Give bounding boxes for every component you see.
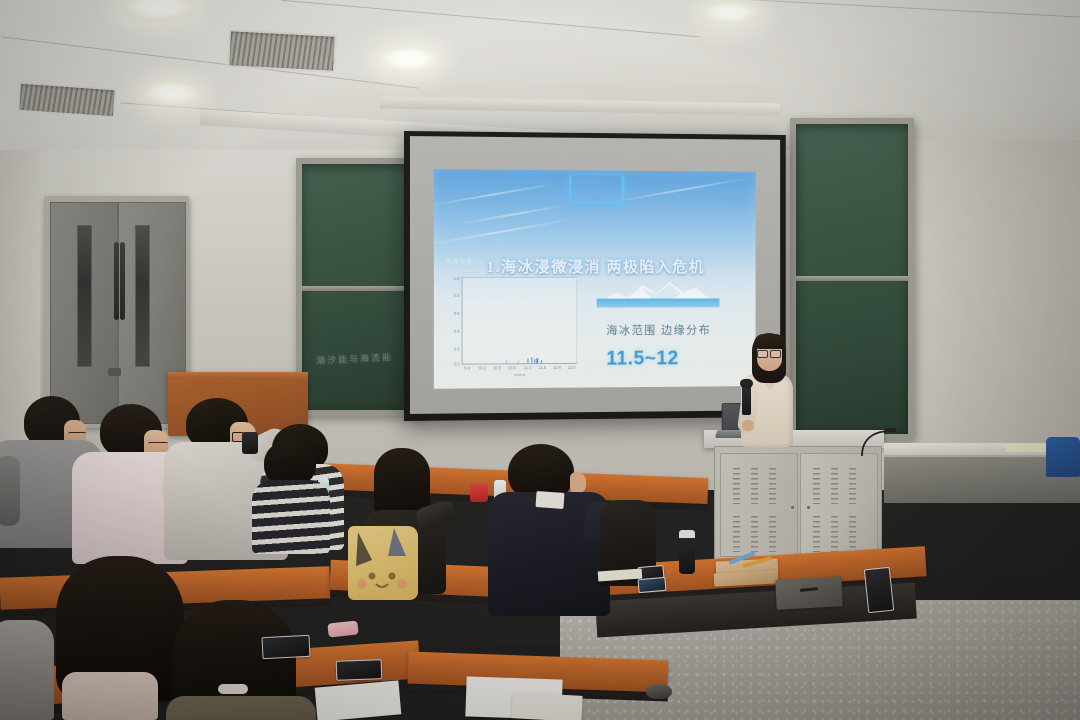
chalk-writing-small: · · · xyxy=(326,336,345,343)
smartphone[interactable] xyxy=(261,635,310,659)
chalk-rail xyxy=(796,276,908,281)
ceiling-light xyxy=(702,2,760,24)
chart-marker xyxy=(531,357,532,363)
y-tick-label: 0.2 xyxy=(454,347,460,352)
cabinet-knob[interactable] xyxy=(807,506,810,509)
door-lock-icon[interactable] xyxy=(108,368,121,376)
x-tick-label: 11.2 xyxy=(524,365,532,370)
chart-marker xyxy=(506,360,507,363)
y-tick-label: 0.6 xyxy=(454,311,460,316)
slide-chart: 1.0 0.8 0.6 0.4 0.2 0.0 9.4 10.2 10.5 10… xyxy=(442,275,579,383)
shirt-collar xyxy=(535,491,564,509)
x-tick-label: 9.4 xyxy=(464,366,470,371)
chart-marker xyxy=(541,360,542,363)
person-torso xyxy=(0,620,54,720)
person-ear xyxy=(570,472,586,494)
yellow-backpack xyxy=(348,526,418,600)
x-tick-label: 11.8 xyxy=(553,365,561,370)
door-window xyxy=(77,225,92,367)
chart-x-axis-label: extent xyxy=(514,372,525,377)
slide-subtitle: 海冰范围 边缘分布 xyxy=(606,322,711,338)
water-bottle-dark xyxy=(679,530,695,574)
pink-item xyxy=(327,620,358,637)
pikachu-pattern-icon xyxy=(348,526,418,600)
smartphone[interactable] xyxy=(637,577,666,593)
projection-screen: 气候变化 1.海冰浸微浸消 两极陷入危机 海冰范围 边缘分布 11.5~12 1… xyxy=(404,131,786,421)
presenter-hair-fringe xyxy=(754,334,785,349)
hair-tie xyxy=(218,684,248,694)
x-tick-label: 11.5 xyxy=(538,365,546,370)
paper-sheet xyxy=(511,692,582,720)
ceiling-light xyxy=(142,82,200,106)
y-tick-label: 1.0 xyxy=(454,276,460,281)
chalk-rail xyxy=(302,286,418,291)
chalk-writing: 潮汐能与海流能 xyxy=(316,350,394,367)
chart-marker xyxy=(528,358,529,363)
door-handle[interactable] xyxy=(114,242,119,320)
sea-band xyxy=(597,298,720,307)
x-tick-label: 10.5 xyxy=(493,365,501,370)
x-tick-label: 10.8 xyxy=(508,365,516,370)
lecture-hall-photo: 潮汐能与海流能 · · · 气候变化 1.海冰浸微浸消 两极陷入危机 xyxy=(0,0,1080,720)
sky-streak xyxy=(434,217,580,248)
cabinet-door-right[interactable] xyxy=(800,453,878,557)
person-arm xyxy=(0,456,20,526)
door-handle[interactable] xyxy=(120,242,125,320)
person-torso xyxy=(62,672,158,720)
screen-surface: 气候变化 1.海冰浸微浸消 两极陷入危机 海冰范围 边缘分布 11.5~12 1… xyxy=(410,136,780,414)
door-window xyxy=(135,225,150,367)
cabinet-knob[interactable] xyxy=(791,506,794,509)
paper-sheet xyxy=(315,680,402,720)
glasses-icon xyxy=(68,432,86,439)
cabinet-door-left[interactable] xyxy=(720,453,798,557)
lectern-top xyxy=(168,372,308,379)
chart-plot-area: 1.0 0.8 0.6 0.4 0.2 0.0 9.4 10.2 10.5 10… xyxy=(462,277,578,365)
glasses-icon xyxy=(148,442,168,450)
door-leaf-left[interactable] xyxy=(50,202,118,424)
presentation-slide: 气候变化 1.海冰浸微浸消 两极陷入危机 海冰范围 边缘分布 11.5~12 1… xyxy=(434,169,756,389)
slide-highlight-value: 11.5~12 xyxy=(606,348,678,371)
glasses-icon xyxy=(757,350,781,356)
y-tick-label: 0.0 xyxy=(454,362,460,367)
red-cup xyxy=(470,484,488,502)
podium-cabinet xyxy=(714,446,882,564)
blue-office-chair[interactable] xyxy=(1046,437,1080,477)
ac-vent-icon xyxy=(227,29,337,73)
slide-decor-bracket-icon xyxy=(569,175,623,203)
y-tick-label: 0.4 xyxy=(454,329,460,334)
smartphone[interactable] xyxy=(336,659,383,681)
handheld-device xyxy=(242,432,258,454)
sky-streak xyxy=(611,177,753,204)
smartphone[interactable] xyxy=(864,567,894,613)
chart-marker xyxy=(534,359,535,363)
microphone-head-icon xyxy=(740,379,753,388)
computer-mouse[interactable] xyxy=(646,684,672,699)
person-torso xyxy=(252,480,330,554)
presenter-hand xyxy=(742,420,754,431)
y-tick-label: 0.8 xyxy=(454,293,460,298)
slide-title: 1.海冰浸微浸消 两极陷入危机 xyxy=(434,255,756,277)
chart-marker xyxy=(517,361,518,364)
x-tick-label: 12.0 xyxy=(568,365,576,370)
person-torso xyxy=(166,696,316,720)
ceiling-light xyxy=(378,48,440,72)
sky-streak xyxy=(434,182,561,207)
notebook-grey xyxy=(775,576,842,609)
x-tick-label: 10.2 xyxy=(478,365,486,370)
blackboard-right xyxy=(790,118,914,440)
chart-marker xyxy=(537,358,538,363)
